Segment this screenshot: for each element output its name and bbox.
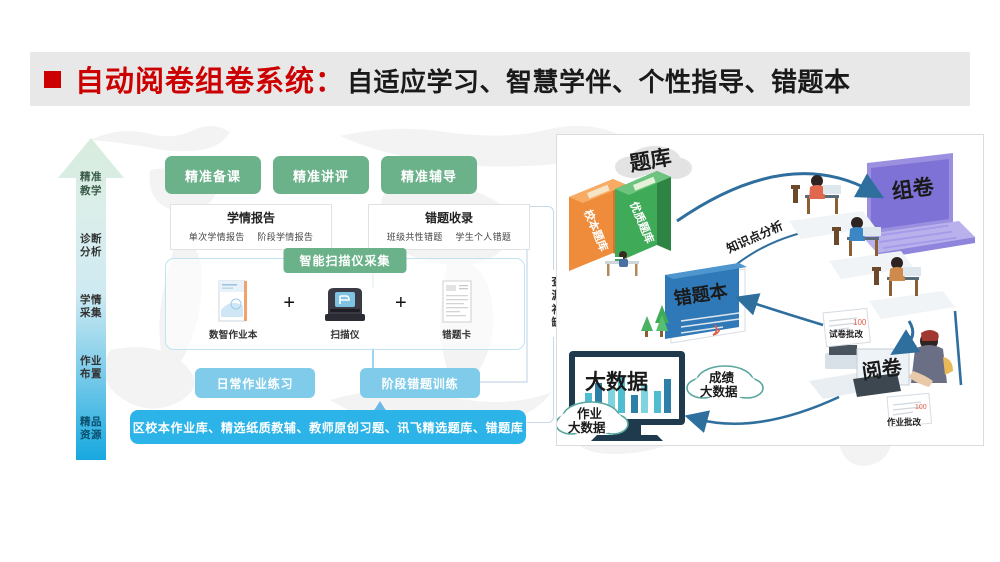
report-card-sub-2: 学生个人错题	[455, 232, 511, 242]
report-card-error-collection: 错题收录 班级共性错题 学生个人错题	[368, 204, 530, 250]
stage-label-1: 诊断 分析	[58, 215, 124, 276]
blue-pill-daily-practice[interactable]: 日常作业练习	[195, 368, 315, 398]
stage-label-4: 精品 资源	[58, 399, 124, 460]
report-card-sub-1: 班级共性错题	[387, 232, 443, 242]
workflow-illustration-panel: 100 100 题库 校本题库 优质题库 组卷 知识点分析 错题本 大数据	[556, 134, 984, 446]
paper-grading-icon: 100	[823, 308, 870, 346]
workflow-illustration: 100 100 题库 校本题库 优质题库 组卷 知识点分析 错题本 大数据	[557, 135, 983, 445]
scan-collection-box: 智能扫描仪采集 数智作业本 +	[165, 258, 525, 350]
cloud-label-homework-bigdata-line2: 大数据	[568, 420, 606, 435]
scan-item-caption: 错题卡	[442, 327, 471, 341]
cloud-label-homework-bigdata-line1: 作业	[577, 406, 603, 421]
report-card-title: 错题收录	[425, 211, 473, 227]
scan-plus-1: +	[283, 292, 295, 315]
page-title-sub: 自适应学习、智慧学伴、个性指导、错题本	[347, 62, 851, 99]
homework-grading-label: 作业批改	[887, 417, 922, 427]
scan-item-workbook: 数智作业本	[195, 280, 271, 341]
report-card-subitems: 班级共性错题 学生个人错题	[382, 230, 516, 243]
stage-label-2-line2: 采集	[80, 307, 102, 320]
cloud-label-score-bigdata-line2: 大数据	[700, 384, 738, 399]
scan-item-caption: 扫描仪	[330, 327, 359, 341]
scan-plus-2: +	[395, 292, 407, 315]
blue-pill-stage-error-training[interactable]: 阶段错题训练	[360, 368, 480, 398]
slide-header-band: 自动阅卷组卷系统： 自适应学习、智慧学伴、个性指导、错题本	[30, 52, 970, 106]
stage-label-0-line2: 教学	[80, 185, 102, 198]
report-card-sub-2: 阶段学情报告	[257, 232, 313, 242]
stage-label-1-line2: 分析	[80, 246, 102, 259]
scan-items-row: 数智作业本 + 扫描仪 +	[166, 271, 524, 349]
slide-root: 自动阅卷组卷系统： 自适应学习、智慧学伴、个性指导、错题本 精准 教学	[0, 0, 1000, 562]
scanner-icon	[322, 280, 368, 324]
report-card-learning-report: 学情报告 单次学情报告 阶段学情报告	[170, 204, 332, 250]
page-title-main: 自动阅卷组卷系统：	[75, 58, 345, 100]
report-card-sub-1: 单次学情报告	[189, 232, 245, 242]
scan-item-scanner: 扫描仪	[307, 280, 383, 341]
stage-label-1-line1: 诊断	[80, 233, 102, 246]
green-button-precise-review[interactable]: 精准讲评	[273, 156, 369, 194]
cloud-label-score-bigdata-line1: 成绩	[709, 370, 735, 385]
left-diagram: 精准 教学 诊断 分析 学情 采集 作业 布置 精品 资源	[30, 120, 540, 460]
error-card-icon	[441, 280, 473, 324]
svg-text:100: 100	[853, 318, 867, 327]
page-title: 自动阅卷组卷系统： 自适应学习、智慧学伴、个性指导、错题本	[75, 58, 851, 100]
workbook-icon	[217, 280, 249, 324]
stage-label-0: 精准 教学	[58, 138, 124, 215]
header-bullet-icon	[44, 71, 61, 88]
stage-arrow-labels: 精准 教学 诊断 分析 学情 采集 作业 布置 精品 资源	[58, 138, 124, 460]
stage-label-3: 作业 布置	[58, 338, 124, 399]
report-card-subitems: 单次学情报告 阶段学情报告	[184, 230, 318, 243]
green-button-precise-tutoring[interactable]: 精准辅导	[381, 156, 477, 194]
stage-label-2-line1: 学情	[80, 294, 102, 307]
stage-label-3-line2: 布置	[80, 368, 102, 381]
stage-label-4-line2: 资源	[80, 429, 102, 442]
stage-label-3-line1: 作业	[80, 355, 102, 368]
stage-label-4-line1: 精品	[80, 416, 102, 429]
stage-label-0-line1: 精准	[80, 171, 102, 184]
scan-collection-heading: 智能扫描仪采集	[283, 248, 406, 273]
scan-item-caption: 数智作业本	[209, 327, 258, 341]
scan-item-error-card: 错题卡	[419, 280, 495, 341]
svg-text:100: 100	[915, 404, 927, 411]
green-button-precise-lesson-prep[interactable]: 精准备课	[165, 156, 261, 194]
paper-grading-label: 试卷批改	[829, 329, 864, 339]
stage-label-2: 学情 采集	[58, 276, 124, 337]
report-card-title: 学情报告	[227, 211, 275, 227]
resource-bar: 区校本作业库、精选纸质教辅、教师原创习题、讯飞精选题库、错题库	[130, 410, 526, 444]
monitor-label-bigdata: 大数据	[585, 371, 648, 394]
